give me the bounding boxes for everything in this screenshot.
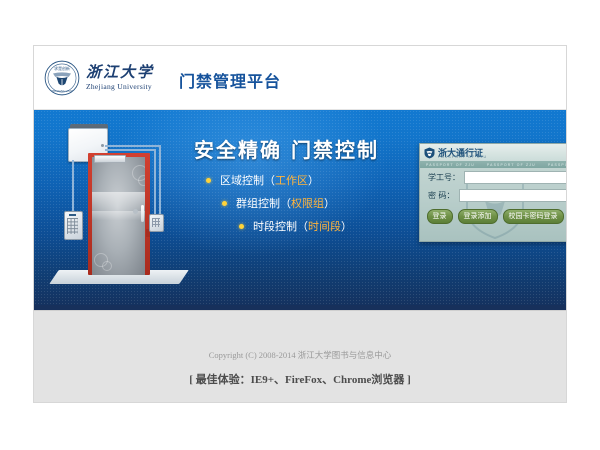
feature-label-alt: 工作区 (275, 172, 308, 188)
feature-item-group-control: 群组控制（ 权限组 ） (222, 195, 352, 211)
svg-text:求是创新: 求是创新 (54, 66, 70, 71)
cable-to-keypad (72, 160, 74, 213)
zju-seal-icon: 求是创新 ZHEJIANG UNIV (44, 60, 80, 96)
university-logo[interactable]: 求是创新 ZHEJIANG UNIV 浙江大学 Zhejiang Univers… (44, 58, 154, 98)
door-knob (133, 209, 138, 214)
login-panel-subtitle: PASSPORT OF ZJU (438, 155, 487, 159)
passport-watermark-strip: PASSPORT OF ZJU PASSPORT OF ZJU PASSPORT… (420, 161, 566, 168)
passport-strip-text: PASSPORT OF ZJU (420, 163, 481, 167)
door-leaf (92, 157, 145, 275)
user-id-label: 学工号： (428, 172, 460, 183)
cable-to-reader-2 (154, 149, 156, 217)
bullet-dot-icon (239, 224, 244, 229)
card-reader-keys-icon (152, 218, 160, 227)
feature-label-end: ） (324, 195, 335, 211)
login-button-row: 登录 登录添加 校园卡密码登录 (428, 209, 562, 224)
feature-label-alt: 时间段 (308, 218, 341, 234)
cable-to-reader-1 (159, 145, 161, 218)
banner-slogan: 安全精确 门禁控制 (194, 134, 379, 163)
bullet-dot-icon (206, 178, 211, 183)
form-row-password: 密 码： (428, 189, 562, 202)
feature-item-area-control: 区域控制（ 工作区 ） (206, 172, 352, 188)
door-handle (141, 205, 144, 222)
keypad-keys-icon (67, 218, 78, 234)
feature-item-time-control: 时段控制（ 时间段 ） (239, 218, 352, 234)
feature-label-end: ） (308, 172, 319, 188)
university-name-en: Zhejiang University (86, 83, 154, 91)
red-door-frame (88, 153, 150, 275)
university-wordmark: 浙江大学 Zhejiang University (86, 66, 154, 91)
card-reader (149, 214, 164, 232)
gear-decor-icon (102, 261, 112, 271)
svg-text:ZHEJIANG UNIV: ZHEJIANG UNIV (51, 89, 72, 93)
site-footer: Copyright (C) 2008-2014 浙江大学图书与信息中心 [ 最佳… (34, 310, 566, 402)
banner-feature-list: 区域控制（ 工作区 ） 群组控制（ 权限组 ） 时段控制（ 时间段 ） (206, 172, 352, 241)
campus-card-login-button[interactable]: 校园卡密码登录 (503, 209, 564, 224)
access-control-door-illustration (46, 118, 196, 306)
feature-label: 区域控制（ (220, 172, 275, 188)
login-button[interactable]: 登录 (427, 209, 453, 224)
password-input[interactable] (459, 189, 566, 202)
login-form: 学工号： 密 码： 登录 登录添加 校园卡密码登录 (420, 171, 566, 224)
gear-decor-icon (138, 175, 145, 186)
site-header: 求是创新 ZHEJIANG UNIV 浙江大学 Zhejiang Univers… (34, 46, 566, 110)
controller-indicator-icon (101, 144, 104, 147)
keypad-display (69, 214, 76, 216)
feature-label-end: ） (341, 218, 352, 234)
door-closer (94, 155, 126, 163)
university-name-cn: 浙江大学 (86, 66, 154, 81)
feature-label: 群组控制（ (236, 195, 291, 211)
cable-top-1 (105, 145, 160, 147)
student-staff-id-input[interactable] (464, 171, 566, 184)
page-root: 求是创新 ZHEJIANG UNIV 浙江大学 Zhejiang Univers… (0, 0, 600, 450)
passport-strip-text: PASSPORT OF ZJU (481, 163, 542, 167)
cable-top-2 (105, 149, 155, 151)
page-title: 门禁管理平台 (179, 68, 281, 92)
footer-copyright: Copyright (C) 2008-2014 浙江大学图书与信息中心 (34, 349, 566, 361)
keypad-reader (64, 211, 83, 240)
login-add-button[interactable]: 登录添加 (458, 209, 498, 224)
feature-label: 时段控制（ (253, 218, 308, 234)
form-row-user-id: 学工号： (428, 171, 562, 184)
hero-banner: 安全精确 门禁控制 区域控制（ 工作区 ） 群组控制（ 权限组 ） 时段控制（ (34, 110, 566, 310)
bullet-dot-icon (222, 201, 227, 206)
page-container: 求是创新 ZHEJIANG UNIV 浙江大学 Zhejiang Univers… (33, 45, 567, 403)
passport-strip-text: PASSPORT OF ZJU (542, 163, 566, 167)
footer-browser-note: [ 最佳体验：IE9+、FireFox、Chrome浏览器 ] (34, 371, 566, 387)
login-panel: 浙大通行证 PASSPORT OF ZJU PASSPORT OF ZJU PA… (419, 143, 566, 242)
shield-icon (424, 147, 435, 159)
password-label: 密 码： (428, 190, 455, 201)
feature-label-alt: 权限组 (291, 195, 324, 211)
